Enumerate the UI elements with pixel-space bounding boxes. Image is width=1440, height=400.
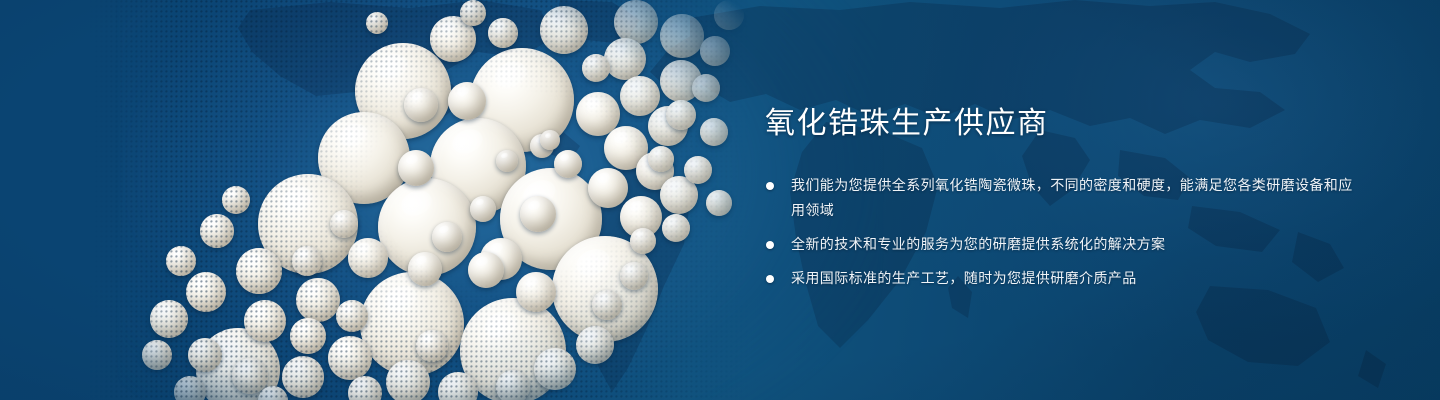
banner-headline: 氧化锆珠生产供应商 [765,105,1365,143]
banner-copy: 氧化锆珠生产供应商 我们能为您提供全系列氧化锆陶瓷微珠，不同的密度和硬度，能满足… [765,105,1365,291]
dot-icon [766,241,774,249]
dot-icon [766,182,774,190]
hero-banner: 氧化锆珠生产供应商 我们能为您提供全系列氧化锆陶瓷微珠，不同的密度和硬度，能满足… [0,0,1440,400]
dot-icon [766,275,774,283]
feature-text: 采用国际标准的生产工艺，随时为您提供研磨介质产品 [791,266,1365,291]
list-item: 全新的技术和专业的服务为您的研磨提供系统化的解决方案 [765,232,1365,257]
list-item: 采用国际标准的生产工艺，随时为您提供研磨介质产品 [765,266,1365,291]
list-item: 我们能为您提供全系列氧化锆陶瓷微珠，不同的密度和硬度，能满足您各类研磨设备和应用… [765,173,1365,223]
feature-text: 全新的技术和专业的服务为您的研磨提供系统化的解决方案 [791,232,1365,257]
banner-feature-list: 我们能为您提供全系列氧化锆陶瓷微珠，不同的密度和硬度，能满足您各类研磨设备和应用… [765,173,1365,291]
feature-text: 我们能为您提供全系列氧化锆陶瓷微珠，不同的密度和硬度，能满足您各类研磨设备和应用… [791,173,1365,223]
